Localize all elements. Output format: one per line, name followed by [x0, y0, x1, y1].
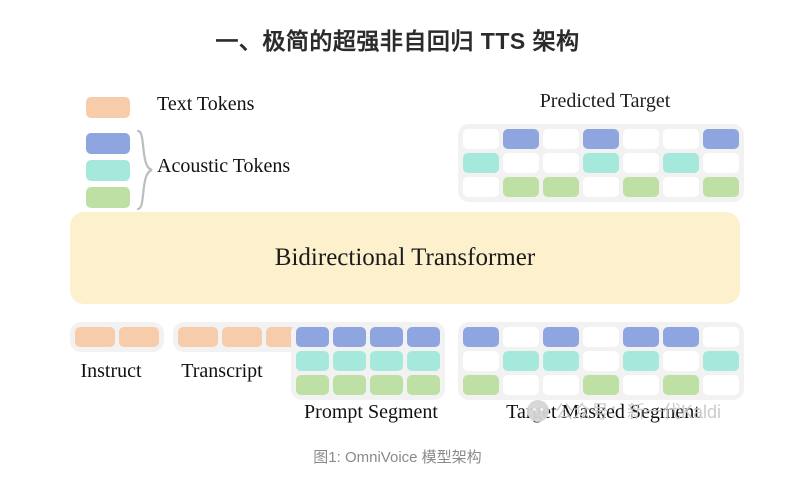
token-cell-filled — [663, 153, 699, 173]
token-cell-empty — [543, 375, 579, 395]
legend-label-acoustic-tokens: Acoustic Tokens — [157, 155, 290, 178]
token-cell-filled — [543, 177, 579, 197]
token-cell-filled — [503, 177, 539, 197]
token-cell-filled — [663, 327, 699, 347]
predicted-target-title: Predicted Target — [455, 90, 755, 113]
token-cell-filled — [623, 327, 659, 347]
token-cell-filled — [543, 351, 579, 371]
token-cell-empty — [663, 351, 699, 371]
grid-row — [296, 351, 440, 371]
token-cell-filled — [583, 129, 619, 149]
grid-row — [463, 351, 739, 371]
grid-row — [463, 177, 739, 197]
token-cell-filled — [463, 375, 499, 395]
legend-swatch-text-token — [86, 97, 130, 118]
token-cell-empty — [583, 351, 619, 371]
token-cell-filled — [503, 351, 539, 371]
token-cell-empty — [583, 327, 619, 347]
token-cell-filled — [703, 351, 739, 371]
grid-row — [296, 375, 440, 395]
token-cell-empty — [463, 129, 499, 149]
label-target-masked-segment: Target Masked Segment — [458, 401, 748, 424]
token-cell-filled — [583, 153, 619, 173]
transformer-label: Bidirectional Transformer — [275, 244, 535, 272]
grid-prompt-segment — [291, 322, 445, 400]
grid-row — [296, 327, 440, 347]
token-cell-empty — [703, 327, 739, 347]
token-cell-filled — [178, 327, 218, 347]
grid-row — [75, 327, 159, 347]
token-cell-empty — [463, 351, 499, 371]
legend-swatch-acoustic-blue — [86, 133, 130, 154]
curly-brace-icon — [134, 129, 156, 211]
token-cell-filled — [333, 375, 366, 395]
legend: Text Tokens Acoustic Tokens — [86, 97, 386, 207]
token-cell-filled — [222, 327, 262, 347]
token-cell-filled — [407, 375, 440, 395]
token-cell-filled — [583, 375, 619, 395]
token-cell-filled — [119, 327, 159, 347]
grid-target-masked-segment — [458, 322, 744, 400]
token-cell-empty — [583, 177, 619, 197]
token-cell-filled — [407, 327, 440, 347]
token-cell-filled — [75, 327, 115, 347]
label-transcript: Transcript — [152, 360, 292, 383]
token-cell-filled — [296, 375, 329, 395]
grid-row — [178, 327, 306, 347]
token-cell-filled — [463, 327, 499, 347]
token-cell-empty — [703, 375, 739, 395]
grid-instruct — [70, 322, 164, 352]
token-cell-filled — [663, 375, 699, 395]
token-cell-filled — [463, 153, 499, 173]
token-cell-filled — [296, 327, 329, 347]
grid-row — [463, 153, 739, 173]
token-cell-filled — [370, 351, 403, 371]
token-cell-empty — [543, 153, 579, 173]
token-cell-empty — [663, 129, 699, 149]
token-cell-empty — [503, 327, 539, 347]
token-cell-filled — [370, 375, 403, 395]
page-title: 一、极简的超强非自回归 TTS 架构 — [0, 22, 795, 56]
token-cell-empty — [543, 129, 579, 149]
token-cell-empty — [623, 375, 659, 395]
token-cell-filled — [407, 351, 440, 371]
label-prompt-segment: Prompt Segment — [281, 401, 461, 424]
legend-swatch-acoustic-green — [86, 187, 130, 208]
label-instruct: Instruct — [55, 360, 167, 383]
token-cell-filled — [370, 327, 403, 347]
legend-label-text-tokens: Text Tokens — [157, 93, 254, 116]
token-cell-filled — [703, 129, 739, 149]
token-cell-filled — [623, 351, 659, 371]
grid-row — [463, 129, 739, 149]
token-cell-filled — [503, 129, 539, 149]
token-cell-empty — [623, 129, 659, 149]
token-cell-empty — [663, 177, 699, 197]
token-cell-empty — [623, 153, 659, 173]
token-cell-empty — [703, 153, 739, 173]
grid-row — [463, 375, 739, 395]
bidirectional-transformer-block: Bidirectional Transformer — [70, 212, 740, 304]
token-cell-filled — [703, 177, 739, 197]
token-cell-empty — [503, 153, 539, 173]
figure-caption: 图1: OmniVoice 模型架构 — [0, 446, 795, 467]
token-cell-filled — [543, 327, 579, 347]
grid-predicted-target — [458, 124, 744, 202]
token-cell-empty — [503, 375, 539, 395]
token-cell-filled — [623, 177, 659, 197]
legend-swatch-acoustic-teal — [86, 160, 130, 181]
token-cell-empty — [463, 177, 499, 197]
grid-row — [463, 327, 739, 347]
token-cell-filled — [333, 327, 366, 347]
token-cell-filled — [333, 351, 366, 371]
token-cell-filled — [296, 351, 329, 371]
